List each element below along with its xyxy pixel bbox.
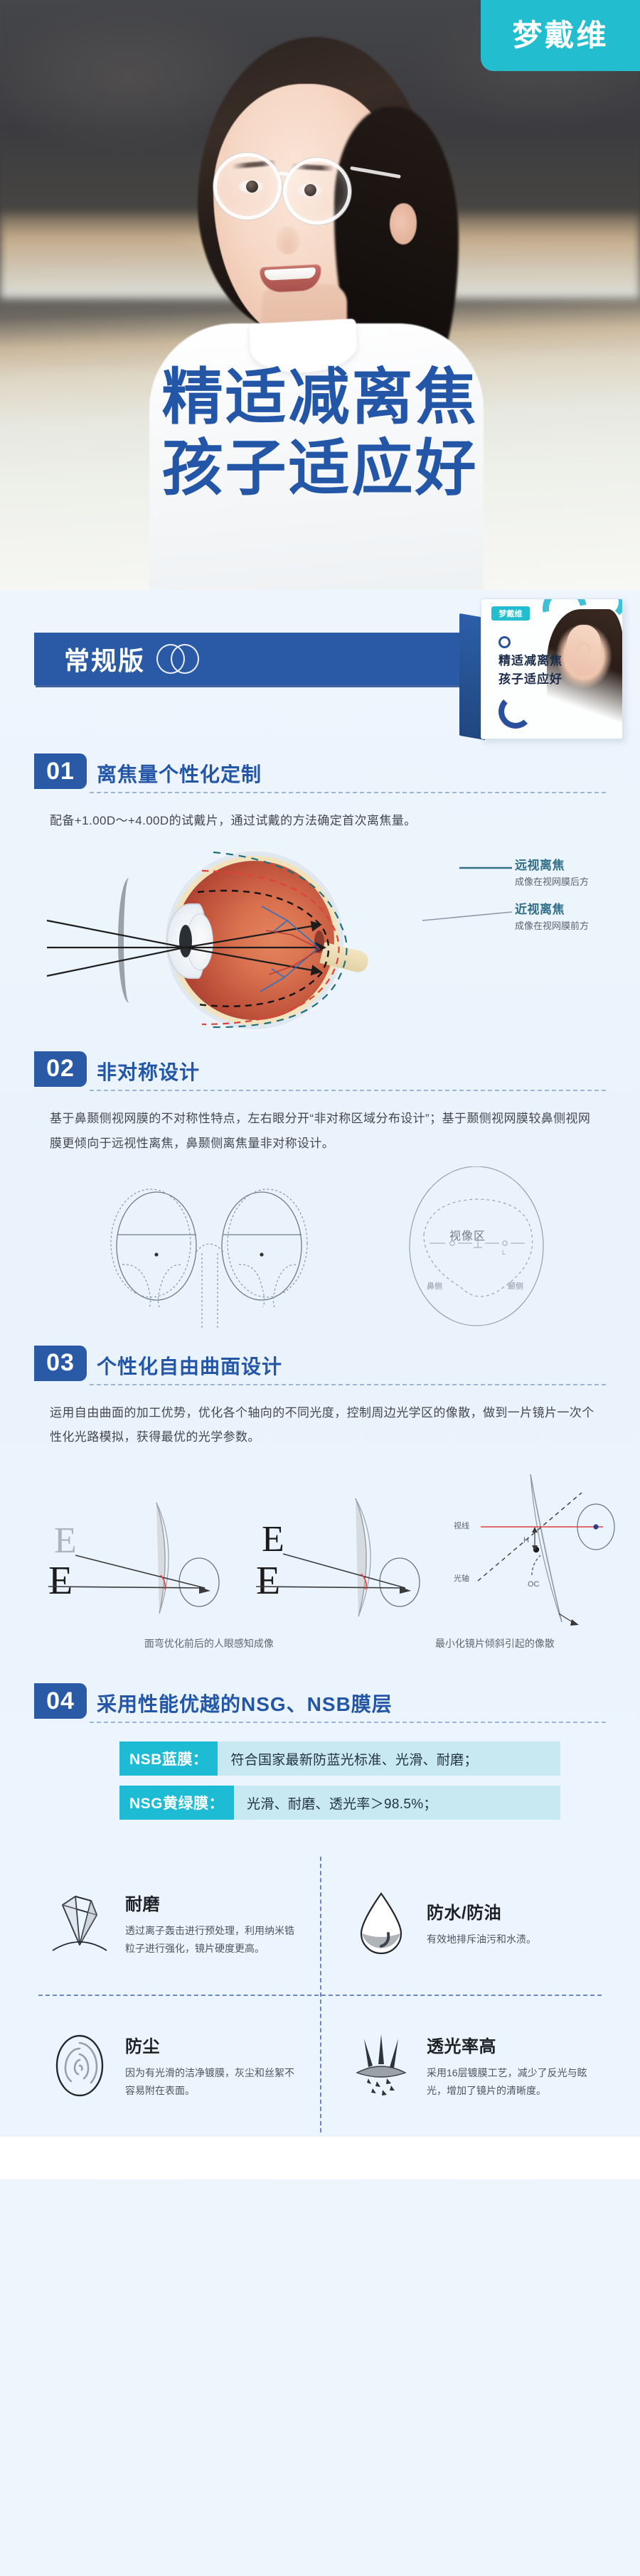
benefit-title-transmittance: 透光率高	[427, 2032, 593, 2057]
feature-04-title: 采用性能优越的NSG、NSB膜层	[97, 1689, 393, 1719]
film-coating-rows: NSB蓝膜： 符合国家最新防蓝光标准、光滑、耐磨； NSG黄绿膜： 光滑、耐磨、…	[119, 1742, 606, 1820]
fingerprint-icon	[47, 2032, 112, 2100]
lens-pair-svg: L	[34, 1166, 617, 1330]
benefit-desc-dustproof: 因为有光滑的洁净镀膜，灰尘和丝絮不容易附在表面。	[125, 2064, 303, 2100]
hero-headline: 精适减离焦 孩子适应好	[0, 363, 640, 505]
feature-02-number: 02	[34, 1051, 87, 1087]
svg-text:E: E	[256, 1559, 280, 1603]
benefit-desc-transmittance: 采用16层镀膜工艺，减少了反光与眩光，增加了镜片的清晰度。	[427, 2064, 593, 2100]
eye-defocus-diagram: 远视离焦 成像在视网膜后方 近视离焦 成像在视网膜前方	[34, 841, 606, 1033]
letter-e-blurred: E	[54, 1520, 77, 1561]
feature-04-header: 04 采用性能优越的NSG、NSB膜层	[34, 1683, 606, 1724]
benefit-cell-waterproof: 防水/防油 有效地排斥油污和水渍。	[320, 1852, 606, 1995]
benefit-text-transmittance: 透光率高 采用16层镀膜工艺，减少了反光与眩光，增加了镜片的清晰度。	[427, 2032, 593, 2100]
feature-01-title: 离焦量个性化定制	[97, 759, 262, 789]
benefit-cell-dustproof: 防尘 因为有光滑的洁净镀膜，灰尘和丝絮不容易附在表面。	[34, 1995, 320, 2137]
feature-block-03: 03 个性化自由曲面设计 运用自由曲面的加工优势，优化各个轴向的不同光度，控制周…	[0, 1346, 640, 1651]
optics-caption-left: 面弯优化前后的人眼感知成像	[34, 1636, 384, 1651]
feature-block-04: 04 采用性能优越的NSG、NSB膜层 NSB蓝膜： 符合国家最新防蓝光标准、光…	[0, 1683, 640, 1820]
eyeglasses-lens-right	[283, 158, 351, 225]
feature-03-body: 运用自由曲面的加工优势，优化各个轴向的不同光度，控制周边光学区的像散，做到一片镜…	[34, 1385, 606, 1451]
label-myopic-title: 近视离焦	[515, 899, 589, 917]
eyeglasses-lens-left	[213, 153, 282, 220]
freeform-optics-diagram: E E E E	[34, 1461, 606, 1632]
svg-text:L: L	[502, 1249, 506, 1256]
product-box-front: 梦戴维 精适减离焦 孩子适应好	[481, 599, 623, 739]
asymmetric-lens-diagram: L 视像区 鼻侧 颞侧	[34, 1166, 606, 1330]
film-chip-nsb: NSB蓝膜：	[119, 1742, 218, 1776]
benefit-text-dustproof: 防尘 因为有光滑的洁净镀膜，灰尘和丝絮不容易附在表面。	[125, 2032, 303, 2100]
feature-03-header: 03 个性化自由曲面设计	[34, 1346, 606, 1387]
benefits-grid: 耐磨 透过离子轰击进行预处理，利用纳米锆粒子进行强化，镜片硬度更高。 防水/防油	[34, 1852, 606, 2137]
optics-caption-right: 最小化镜片倾斜引起的像散	[384, 1636, 606, 1651]
product-box-text: 精适减离焦 孩子适应好	[498, 652, 562, 688]
model-ear	[390, 203, 417, 245]
optics-svg: E E E E	[34, 1461, 617, 1632]
label-optical-axis: 光轴	[454, 1573, 469, 1583]
label-hyperopic-defocus: 远视离焦 成像在视网膜后方	[515, 855, 589, 888]
benefit-title-dustproof: 防尘	[125, 2032, 303, 2057]
feature-01-body: 配备+1.00D～+4.00D的试戴片，通过试戴的方法确定首次离焦量。	[34, 793, 606, 834]
optics-captions: 面弯优化前后的人眼感知成像 最小化镜片倾斜引起的像散	[34, 1636, 606, 1651]
label-height: H	[523, 1536, 529, 1545]
label-hyperopic-sub: 成像在视网膜后方	[515, 874, 589, 888]
hero-section: 梦戴维 精适减离焦 孩子适应好	[0, 0, 640, 590]
svg-text:E: E	[262, 1519, 284, 1560]
content-section: 常规版 梦戴维 精适减离焦 孩子	[0, 590, 640, 2576]
feature-04-number: 04	[34, 1683, 87, 1719]
product-box-image: 梦戴维 精适减离焦 孩子适应好	[459, 596, 634, 748]
benefit-text-waterproof: 防水/防油 有效地排斥油污和水渍。	[427, 1899, 536, 1948]
label-hyperopic-title: 远视离焦	[515, 855, 589, 873]
letter-e-sharp: E	[48, 1559, 73, 1603]
film-desc-nsb: 符合国家最新防蓝光标准、光滑、耐磨；	[218, 1742, 560, 1776]
feature-01-number: 01	[34, 753, 87, 789]
benefit-cell-abrasion: 耐磨 透过离子轰击进行预处理，利用纳米锆粒子进行强化，镜片硬度更高。	[34, 1852, 320, 1995]
feature-03-number: 03	[34, 1346, 87, 1381]
label-sight-line: 视线	[454, 1520, 469, 1530]
label-myopic-defocus: 近视离焦 成像在视网膜前方	[515, 899, 589, 932]
benefit-text-abrasion: 耐磨 透过离子轰击进行预处理，利用纳米锆粒子进行强化，镜片硬度更高。	[125, 1890, 303, 1958]
feature-03-title: 个性化自由曲面设计	[97, 1351, 282, 1381]
benefit-desc-waterproof: 有效地排斥油污和水渍。	[427, 1931, 536, 1948]
version-banner: 常规版	[34, 633, 468, 685]
feature-02-header: 02 非对称设计	[34, 1051, 606, 1093]
product-box-line2: 孩子适应好	[498, 670, 562, 689]
film-chip-nsg: NSG黄绿膜：	[119, 1786, 234, 1820]
version-banner-title: 常规版	[64, 640, 145, 677]
water-drop-icon	[348, 1889, 414, 1958]
label-myopic-sub: 成像在视网膜前方	[515, 918, 589, 932]
product-detail-page: 梦戴维 精适减离焦 孩子适应好 常规版	[0, 0, 640, 2576]
brand-logo-text: 梦戴维	[512, 21, 608, 50]
brand-logo-badge: 梦戴维	[481, 0, 640, 71]
film-desc-nsg: 光滑、耐磨、透光率＞98.5%；	[234, 1786, 560, 1820]
benefit-title-abrasion: 耐磨	[125, 1890, 303, 1915]
lens-nasal-label: 鼻侧	[427, 1280, 442, 1292]
box-decor-ring-small	[498, 636, 511, 648]
model-nose	[276, 226, 300, 254]
product-box-ok-gesture	[577, 642, 591, 656]
light-rays-icon	[348, 2032, 414, 2100]
film-row-nsg: NSG黄绿膜： 光滑、耐磨、透光率＞98.5%；	[119, 1786, 560, 1820]
diamond-icon	[47, 1889, 112, 1958]
hero-headline-line2: 孩子适应好	[0, 434, 640, 505]
box-decor-ring-bottom	[498, 694, 533, 729]
hero-headline-line1: 精适减离焦	[0, 363, 640, 434]
film-row-nsb: NSB蓝膜： 符合国家最新防蓝光标准、光滑、耐磨；	[119, 1742, 560, 1776]
feature-block-02: 02 非对称设计 基于鼻颞侧视网膜的不对称性特点，左右眼分开“非对称区域分布设计…	[0, 1051, 640, 1330]
lens-zone-label: 视像区	[449, 1226, 486, 1243]
version-banner-row: 常规版 梦戴维 精适减离焦 孩子	[0, 590, 640, 753]
label-oc: OC	[528, 1580, 540, 1589]
page-bottom-spacer	[0, 2137, 640, 2179]
overlapping-circles-icon	[156, 644, 201, 674]
product-box-line1: 精适减离焦	[498, 652, 562, 670]
benefit-title-waterproof: 防水/防油	[427, 1899, 536, 1923]
feature-02-body: 基于鼻颞侧视网膜的不对称性特点，左右眼分开“非对称区域分布设计”；基于颞侧视网膜…	[34, 1091, 606, 1156]
benefit-desc-abrasion: 透过离子轰击进行预处理，利用纳米锆粒子进行强化，镜片硬度更高。	[125, 1922, 303, 1958]
feature-block-01: 01 离焦量个性化定制 配备+1.00D～+4.00D的试戴片，通过试戴的方法确…	[0, 753, 640, 1033]
benefit-cell-transmittance: 透光率高 采用16层镀膜工艺，减少了反光与眩光，增加了镜片的清晰度。	[320, 1995, 606, 2137]
lens-temporal-label: 颞侧	[508, 1280, 523, 1292]
product-box-logo: 梦戴维	[491, 606, 530, 621]
feature-01-header: 01 离焦量个性化定制	[34, 753, 606, 795]
feature-02-title: 非对称设计	[97, 1057, 200, 1087]
